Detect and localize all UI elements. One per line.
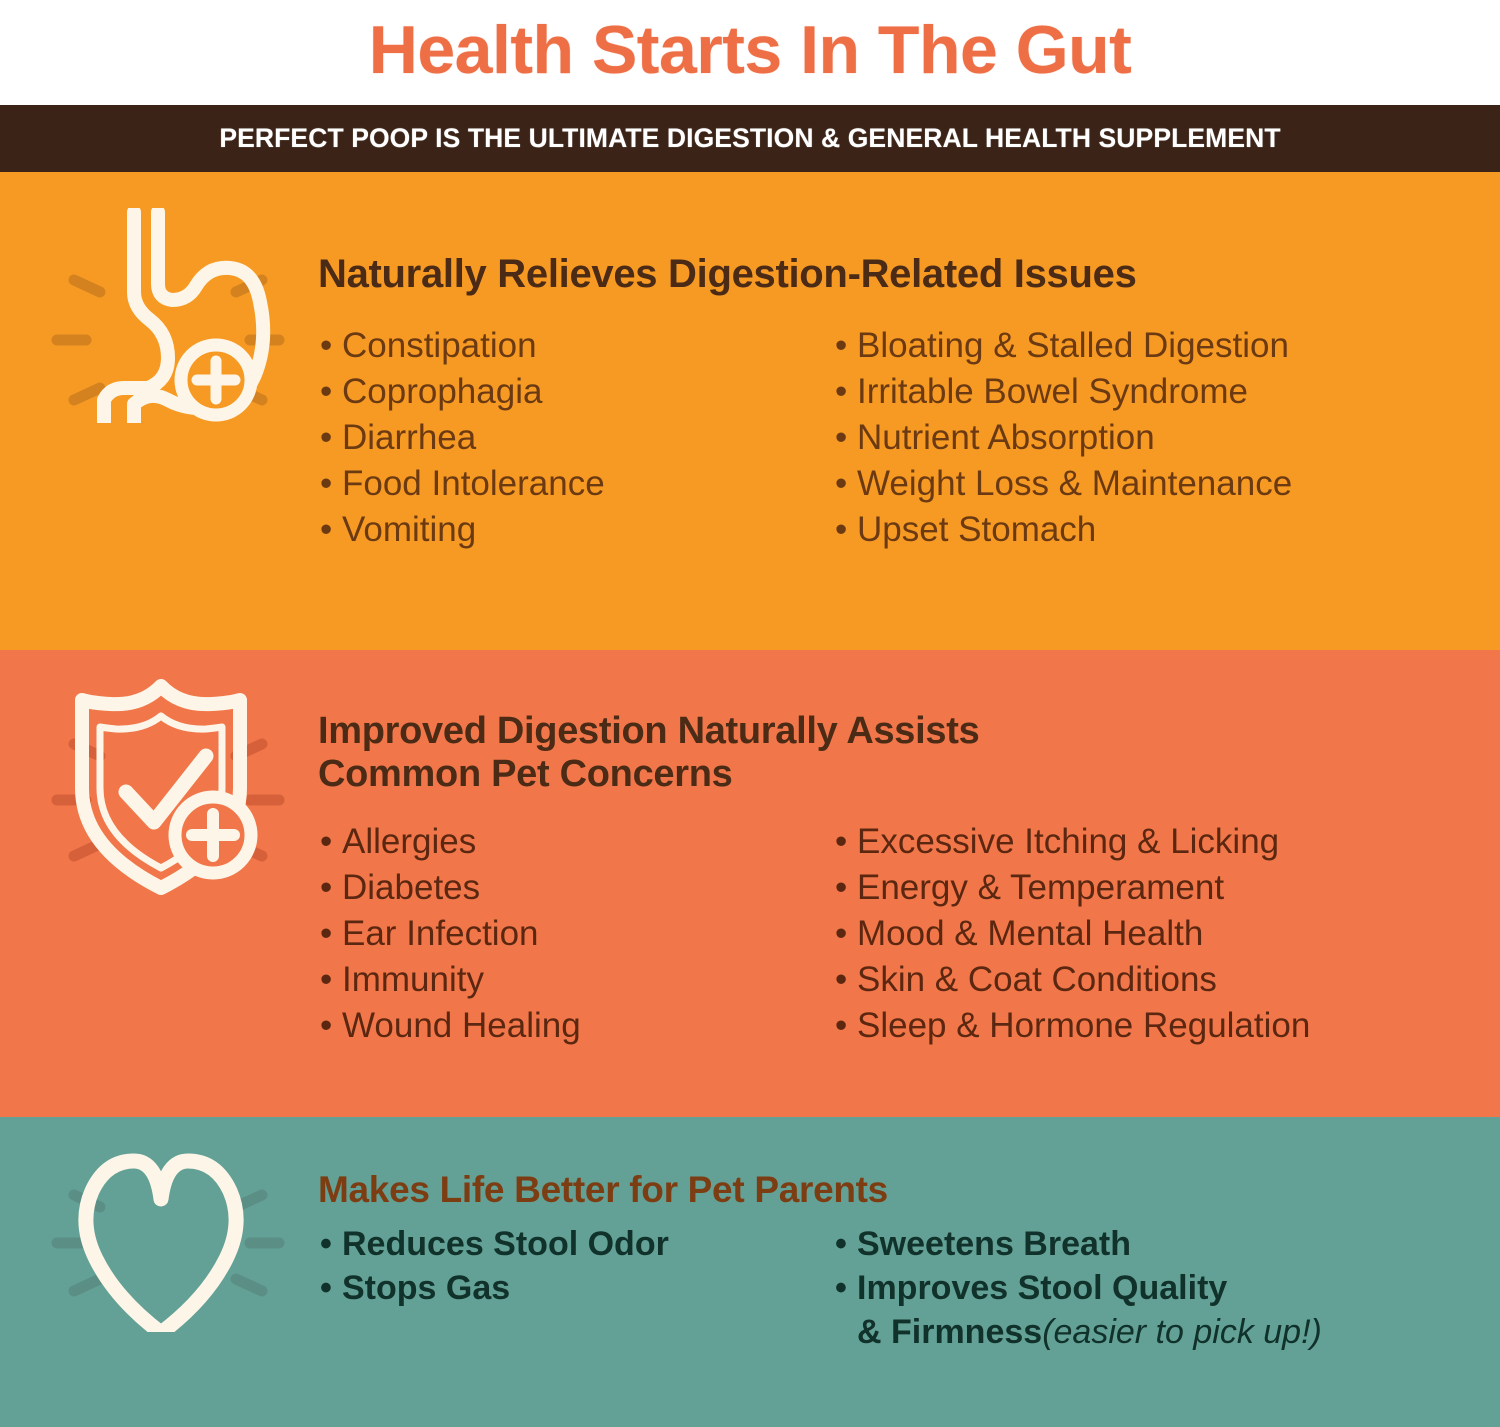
concerns-text-block: Improved Digestion Naturally Assists Com… bbox=[318, 650, 1480, 1049]
heading-line-1: Improved Digestion Naturally Assists bbox=[318, 710, 979, 752]
list-item: Vomiting bbox=[318, 507, 833, 553]
list-item: Sweetens Breath bbox=[833, 1222, 1322, 1266]
heart-icon bbox=[30, 1147, 292, 1332]
list-item: Improves Stool Quality bbox=[833, 1266, 1322, 1310]
list-item: Stops Gas bbox=[318, 1266, 833, 1310]
digestion-left-list: Constipation Coprophagia Diarrhea Food I… bbox=[318, 323, 833, 553]
parents-text-block: Makes Life Better for Pet Parents Reduce… bbox=[318, 1117, 1480, 1354]
stomach-plus-icon bbox=[30, 208, 292, 423]
list-item: Sleep & Hormone Regulation bbox=[833, 1003, 1310, 1049]
list-item: Diabetes bbox=[318, 865, 833, 911]
section-heading-parents: Makes Life Better for Pet Parents bbox=[318, 1117, 1480, 1210]
heading-line-2: Common Pet Concerns bbox=[318, 753, 732, 795]
list-item: Nutrient Absorption bbox=[833, 415, 1292, 461]
list-item: Constipation bbox=[318, 323, 833, 369]
list-item: Irritable Bowel Syndrome bbox=[833, 369, 1292, 415]
parents-left-list: Reduces Stool Odor Stops Gas bbox=[318, 1222, 833, 1310]
list-item: Ear Infection bbox=[318, 911, 833, 957]
list-item: Immunity bbox=[318, 957, 833, 1003]
concerns-columns: Allergies Diabetes Ear Infection Immunit… bbox=[318, 819, 1480, 1049]
section-pet-parents: Makes Life Better for Pet Parents Reduce… bbox=[0, 1117, 1500, 1427]
concerns-left-column: Allergies Diabetes Ear Infection Immunit… bbox=[318, 819, 833, 1049]
digestion-right-list: Bloating & Stalled Digestion Irritable B… bbox=[833, 323, 1292, 553]
list-item: Energy & Temperament bbox=[833, 865, 1310, 911]
list-item: Mood & Mental Health bbox=[833, 911, 1310, 957]
subtitle-text: PERFECT POOP IS THE ULTIMATE DIGESTION &… bbox=[219, 123, 1280, 154]
digestion-text-block: Naturally Relieves Digestion-Related Iss… bbox=[318, 172, 1480, 553]
list-item: Wound Healing bbox=[318, 1003, 833, 1049]
parents-right-list: Sweetens Breath Improves Stool Quality &… bbox=[833, 1222, 1322, 1354]
concerns-right-column: Excessive Itching & Licking Energy & Tem… bbox=[833, 819, 1310, 1049]
list-item: Coprophagia bbox=[318, 369, 833, 415]
list-item: Food Intolerance bbox=[318, 461, 833, 507]
page-title: Health Starts In The Gut bbox=[369, 16, 1132, 90]
subtitle-band: PERFECT POOP IS THE ULTIMATE DIGESTION &… bbox=[0, 105, 1500, 172]
list-item-continuation: & Firmness(easier to pick up!) bbox=[833, 1310, 1322, 1354]
list-item: Skin & Coat Conditions bbox=[833, 957, 1310, 1003]
digestion-right-column: Bloating & Stalled Digestion Irritable B… bbox=[833, 323, 1292, 553]
firmness-label: & Firmness bbox=[857, 1313, 1042, 1351]
digestion-left-column: Constipation Coprophagia Diarrhea Food I… bbox=[318, 323, 833, 553]
list-item: Weight Loss & Maintenance bbox=[833, 461, 1292, 507]
parents-columns: Reduces Stool Odor Stops Gas Sweetens Br… bbox=[318, 1222, 1480, 1354]
section-heading-digestion: Naturally Relieves Digestion-Related Iss… bbox=[318, 172, 1480, 297]
list-item: Reduces Stool Odor bbox=[318, 1222, 833, 1266]
parents-right-column: Sweetens Breath Improves Stool Quality &… bbox=[833, 1222, 1322, 1354]
parents-left-column: Reduces Stool Odor Stops Gas bbox=[318, 1222, 833, 1354]
infographic-poster: Health Starts In The Gut PERFECT POOP IS… bbox=[0, 0, 1500, 1427]
concerns-right-list: Excessive Itching & Licking Energy & Tem… bbox=[833, 819, 1310, 1049]
list-item: Diarrhea bbox=[318, 415, 833, 461]
list-item: Upset Stomach bbox=[833, 507, 1292, 553]
shield-check-plus-icon bbox=[30, 672, 292, 902]
title-band: Health Starts In The Gut bbox=[0, 0, 1500, 105]
digestion-columns: Constipation Coprophagia Diarrhea Food I… bbox=[318, 323, 1480, 553]
section-digestion: Naturally Relieves Digestion-Related Iss… bbox=[0, 172, 1500, 650]
section-pet-concerns: Improved Digestion Naturally Assists Com… bbox=[0, 650, 1500, 1117]
concerns-left-list: Allergies Diabetes Ear Infection Immunit… bbox=[318, 819, 833, 1049]
list-item: Allergies bbox=[318, 819, 833, 865]
list-item: Bloating & Stalled Digestion bbox=[833, 323, 1292, 369]
section-heading-concerns: Improved Digestion Naturally Assists Com… bbox=[318, 650, 1480, 795]
firmness-note: (easier to pick up!) bbox=[1042, 1313, 1322, 1351]
list-item: Excessive Itching & Licking bbox=[833, 819, 1310, 865]
